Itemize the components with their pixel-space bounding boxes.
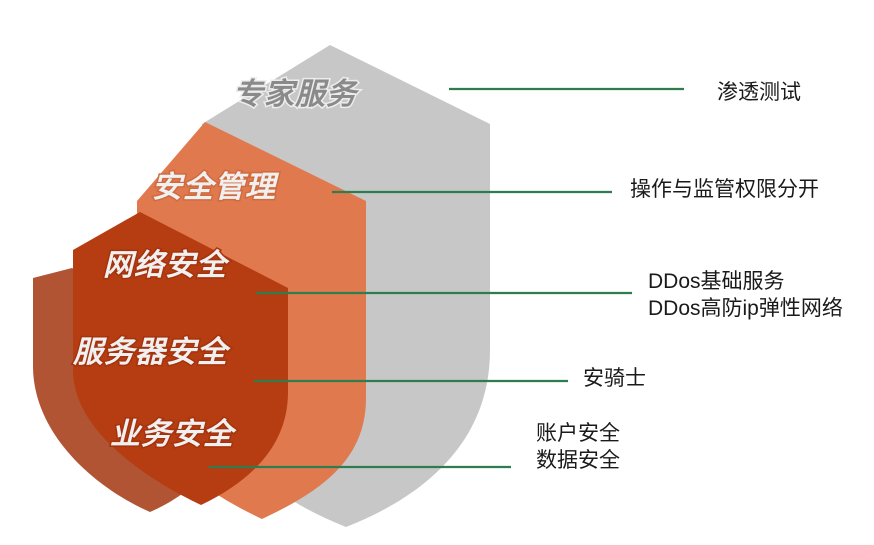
callout-label-management: 操作与监管权限分开 (630, 177, 819, 204)
callout-label-server: 安骑士 (583, 366, 646, 393)
callout-label-expert: 渗透测试 (717, 80, 801, 107)
callout-label-business: 账户安全 数据安全 (536, 421, 620, 475)
callout-label-network: DDos基础服务 DDos高防ip弹性网络 (648, 269, 843, 323)
diagram-canvas: 专家服务 安全管理 网络安全 服务器安全 业务安全 渗透测试 操作与监管权限分开… (0, 0, 874, 545)
